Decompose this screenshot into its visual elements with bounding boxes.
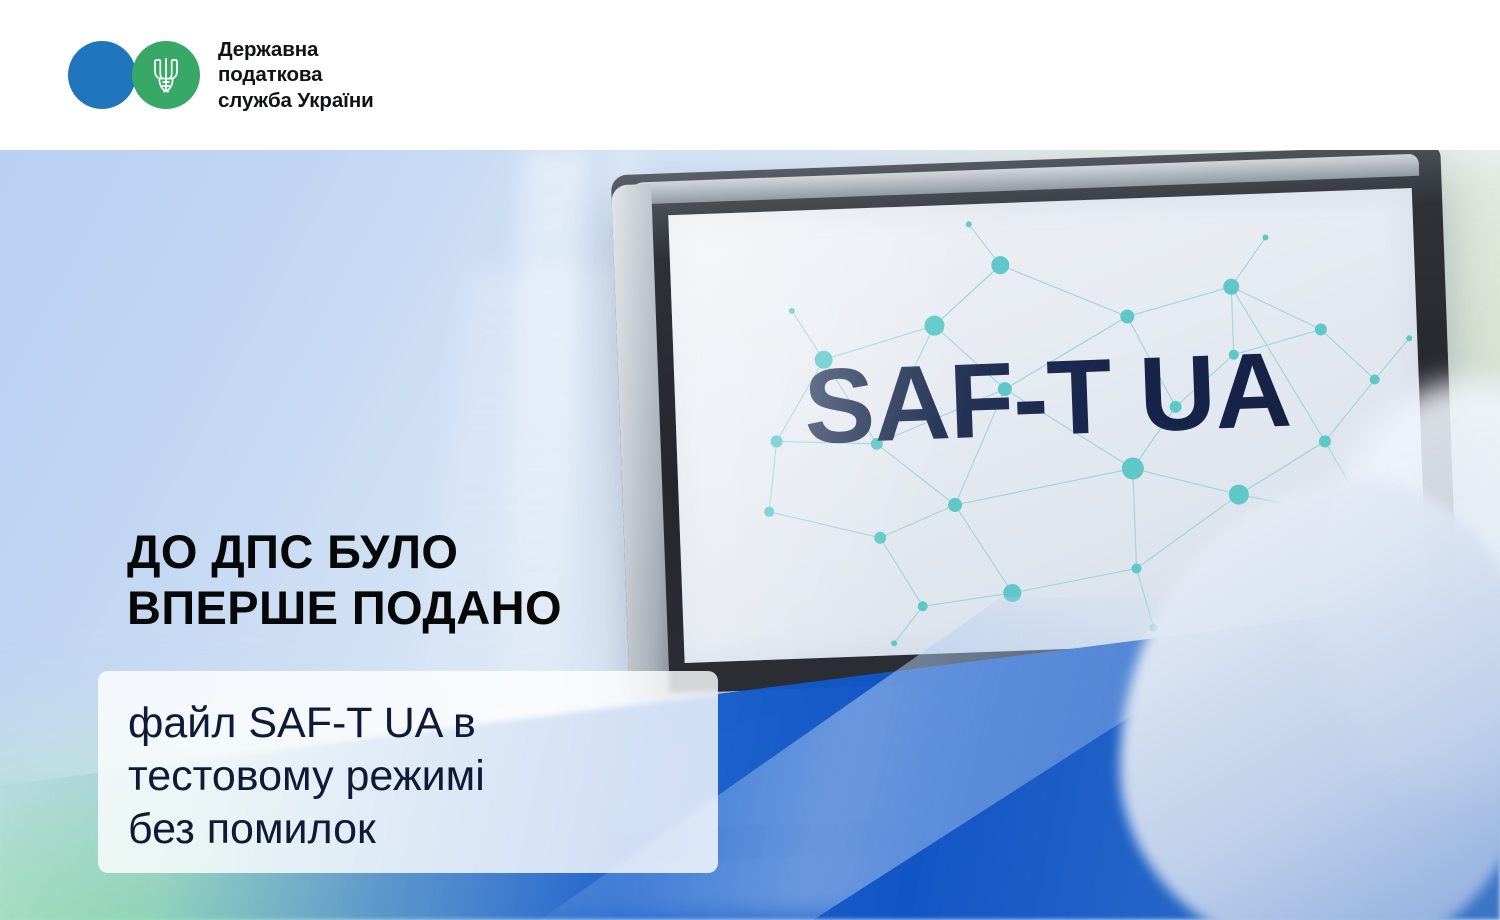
logo-blue-circle-icon xyxy=(68,41,136,109)
subtitle-panel: файл SAF-T UA в тестовому режимі без пом… xyxy=(98,671,718,873)
organization-name: Державна податкова служба України xyxy=(218,37,374,114)
site-header: Державна податкова служба України xyxy=(0,0,1500,150)
subtitle-text: файл SAF-T UA в тестовому режимі без пом… xyxy=(128,697,698,856)
hero-image: SAF-T UA ДО ДПС БУЛО ВПЕРШЕ ПОДАНО файл … xyxy=(0,150,1500,920)
poster-page: Державна податкова служба України xyxy=(0,0,1500,920)
logo-marks xyxy=(68,41,200,109)
page-title: ДО ДПС БУЛО ВПЕРШЕ ПОДАНО xyxy=(127,524,562,636)
organization-logo[interactable]: Державна податкова служба України xyxy=(68,37,374,114)
ukrainian-trident-icon xyxy=(132,41,200,109)
